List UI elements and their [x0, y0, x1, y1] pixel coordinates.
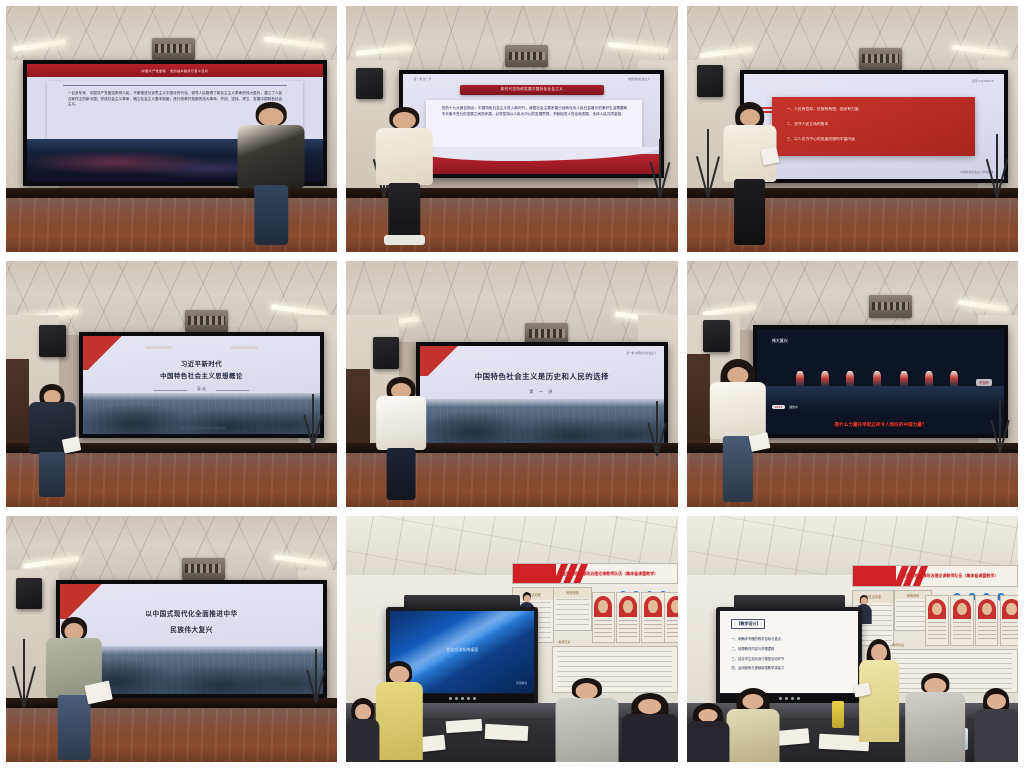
participant — [621, 693, 677, 762]
table-document — [485, 724, 529, 741]
lecture-hall-scene: 习近平新时代 中国特色社会主义思想概论 导 论 马克思主义学院 思想政治理论课教… — [6, 261, 337, 507]
slide-course-title: 习近平新时代 中国特色社会主义思想概论 导 论 马克思主义学院 思想政治理论课教… — [83, 336, 320, 434]
presenter — [376, 661, 422, 759]
lecture-hall-scene: 目录 CONTENTS 一、人民有信仰，民族有希望，国家有力量 二、坚守人民立场… — [687, 6, 1018, 252]
head — [742, 694, 763, 709]
photo-cell-9[interactable]: 全国高校思想政治理论课教师队伍（集体备课暨教学） 党员活动室 师德师风 教师风采 — [687, 516, 1018, 762]
participant — [905, 673, 965, 762]
teacher-photo-card — [925, 595, 949, 646]
outline-item: 一、明确本专题的教学目标与重点 — [731, 636, 850, 641]
legs — [387, 448, 416, 500]
torso — [859, 660, 899, 743]
legs — [39, 452, 65, 497]
camera-tripod — [707, 129, 709, 198]
video-control-label: 播放中 — [789, 405, 797, 409]
slide-red-wave — [403, 154, 660, 174]
camera-tripod — [659, 139, 661, 198]
presenter — [710, 359, 766, 502]
photo-cell-8[interactable]: 全国高校思想政治理论课教师队伍（集体备课暨教学） 党员活动室 师德师风 教师风采 — [346, 516, 677, 762]
presenter — [46, 617, 102, 760]
wall-speaker — [39, 325, 66, 357]
wall-speaker — [356, 68, 383, 100]
taskbar-icon[interactable] — [473, 697, 476, 700]
projector-unit — [182, 558, 225, 580]
legs — [254, 185, 288, 245]
desktop-caption: 会议交流系统桌面 — [390, 647, 534, 653]
slide-section-title: 第一章 中国特色社会主义 中国特色社会主义是历史和人民的选择 第 一 讲 — [420, 346, 664, 444]
taskbar-icon[interactable] — [791, 697, 794, 700]
led-screen: 第一章 中国特色社会主义 中国特色社会主义是历史和人民的选择 第 一 讲 — [416, 342, 668, 448]
camera-tripod — [23, 639, 25, 708]
outline-item: 三、结合学生实际设计课堂互动环节 — [731, 656, 850, 661]
photo-cell-7[interactable]: 以中国式现代化全面推进中华 民族伟大复兴 — [6, 516, 337, 762]
torso — [346, 719, 379, 762]
camera-tripod — [312, 394, 314, 448]
head — [987, 694, 1005, 709]
presenter — [859, 639, 899, 742]
slide-badge: 新时代坚持和发展中国特色社会主义 — [460, 85, 604, 95]
photo-cell-5[interactable]: 第一章 中国特色社会主义 中国特色社会主义是历史和人民的选择 第 一 讲 — [346, 261, 677, 507]
slide-banner-text: 中国共产党章程 · 党的基本路线与奋斗目标 — [27, 64, 324, 77]
teacher-photo-card — [641, 592, 665, 643]
meeting-room-scene: 全国高校思想政治理论课教师队伍（集体备课暨教学） 党员活动室 师德师风 教师风采 — [687, 516, 1018, 762]
teacher-photo-card — [975, 595, 999, 646]
photo-cell-3[interactable]: 目录 CONTENTS 一、人民有信仰，民族有希望，国家有力量 二、坚守人民立场… — [687, 6, 1018, 252]
photo-cell-6[interactable]: 伟大复兴 央视网 CCTV 播放中 是什么力量托举起这样令人惊叹的中国力量？ — [687, 261, 1018, 507]
wall-speaker — [373, 337, 400, 369]
head — [871, 644, 887, 661]
torso — [621, 714, 677, 762]
slide-footer: 马克思主义学院 思想政治理论课教学团队 — [83, 426, 320, 430]
decor-line — [230, 346, 258, 349]
taskbar-icon[interactable] — [449, 697, 452, 700]
video-performer — [796, 371, 804, 386]
outline-item: 四、运用案例与视频增强教学感染力 — [731, 665, 850, 670]
slide-header-right: 第一章 中国特色社会主义 — [626, 351, 656, 355]
led-screen: 目录 CONTENTS 一、人民有信仰，民族有希望，国家有力量 二、坚守人民立场… — [740, 70, 1008, 183]
led-screen: 第一章 第一节 中国特色社会主义 新时代坚持和发展中国特色社会主义 党的十九大报… — [399, 70, 664, 178]
photo-cell-1[interactable]: 中国共产党章程 · 党的基本路线与奋斗目标 一百多年来，中国共产党团结带领人民，… — [6, 6, 337, 252]
video-controls[interactable]: CCTV 播放中 — [772, 405, 798, 409]
outline-item: 一、人民有信仰，民族有希望，国家有力量 — [787, 107, 962, 112]
slide-divider — [63, 85, 288, 86]
panel-camera-bar — [404, 595, 520, 609]
photo-collage-grid: 中国共产党章程 · 党的基本路线与奋斗目标 一百多年来，中国共产党团结带领人民，… — [0, 0, 1024, 768]
taskbar-icon[interactable] — [797, 697, 800, 700]
video-performer — [846, 371, 854, 386]
taskbar-icon[interactable] — [455, 697, 458, 700]
participant — [726, 688, 779, 762]
shoe — [400, 235, 425, 245]
projector-unit — [185, 310, 228, 332]
wall-banner: 全国高校思想政治理论课教师队伍（集体备课暨教学） — [512, 563, 678, 585]
photo-cell-2[interactable]: 第一章 第一节 中国特色社会主义 新时代坚持和发展中国特色社会主义 党的十九大报… — [346, 6, 677, 252]
led-screen: 习近平新时代 中国特色社会主义思想概论 导 论 马克思主义学院 思想政治理论课教… — [79, 332, 324, 438]
teacher-photo-card — [1000, 595, 1018, 646]
outline-slide: 【教学设计】 一、明确本专题的教学目标与重点 二、梳理教材内容与学理逻辑 三、结… — [720, 611, 858, 693]
video-frame: 伟大复兴 央视网 CCTV 播放中 是什么力量托举起这样令人惊叹的中国力量？ — [757, 329, 1004, 434]
door — [687, 354, 710, 452]
wall-speaker — [703, 320, 730, 352]
video-performer — [821, 371, 829, 386]
video-performer — [873, 371, 881, 386]
wall-board: 师德师风 — [553, 587, 591, 631]
torso — [376, 682, 422, 760]
observer — [29, 384, 75, 497]
slide-header-right: 目录 CONTENTS — [972, 79, 994, 83]
thermos-cup — [832, 701, 844, 728]
banner-text: 全国高校思想政治理论课教师队伍（集体备课暨教学） — [562, 564, 673, 584]
torso — [905, 692, 965, 762]
panel-camera-bar — [734, 595, 845, 609]
board-content — [556, 599, 590, 628]
camera-tripod — [656, 401, 658, 455]
slide-header: 第一章 第一节 中国特色社会主义 — [403, 77, 660, 81]
torso — [376, 128, 432, 186]
video-performer — [900, 371, 908, 386]
camera-tripod — [996, 134, 998, 198]
meeting-room-scene: 全国高校思想政治理论课教师队伍（集体备课暨教学） 党员活动室 师德师风 教师风采 — [346, 516, 677, 762]
legs — [58, 695, 91, 759]
participant — [555, 678, 618, 762]
video-stage-floor — [757, 386, 1004, 413]
slide-banner: 中国共产党章程 · 党的基本路线与奋斗目标 — [27, 64, 324, 77]
taskbar-icon[interactable] — [461, 697, 464, 700]
projector-unit — [152, 38, 195, 60]
desktop-corner-label: 智慧教室 — [516, 681, 527, 685]
slide-subtitle: 第 一 讲 — [420, 389, 664, 395]
legs — [723, 436, 753, 502]
head — [393, 112, 416, 129]
participant — [687, 703, 730, 762]
projector-unit — [869, 295, 912, 317]
presenter — [723, 102, 776, 245]
slide-subtitle: 导 论 — [83, 386, 320, 392]
torso — [687, 721, 730, 762]
slide-header-right: 中国特色社会主义 — [628, 77, 650, 81]
wall-speaker — [697, 65, 724, 97]
camera-tripod — [315, 649, 317, 703]
presenter — [376, 377, 426, 500]
board-title: 师德师风 — [554, 588, 590, 597]
wall-speaker — [16, 578, 43, 610]
video-badge: CCTV — [772, 405, 786, 409]
door — [346, 369, 369, 453]
banner-block — [853, 566, 896, 586]
decor-line — [145, 346, 173, 349]
lecture-hall-scene: 以中国式现代化全面推进中华 民族伟大复兴 — [6, 516, 337, 762]
participant — [346, 698, 379, 762]
lecture-hall-scene: 第一章 第一节 中国特色社会主义 新时代坚持和发展中国特色社会主义 党的十九大报… — [346, 6, 677, 252]
outline-item: 二、梳理教材内容与学理逻辑 — [731, 646, 850, 651]
video-performer — [950, 371, 958, 386]
slide-title-line1: 中国特色社会主义是历史和人民的选择 — [420, 372, 664, 382]
presenter — [376, 107, 432, 245]
torso — [376, 396, 426, 450]
torso — [238, 125, 305, 188]
photo-wall-label: 教师风采 — [558, 640, 570, 644]
teacher-photo-card — [616, 592, 640, 643]
slide-badge-text: 新时代坚持和发展中国特色社会主义 — [501, 87, 563, 92]
camera-tripod — [999, 399, 1001, 453]
banner-text: 全国高校思想政治理论课教师队伍（集体备课暨教学） — [902, 566, 1013, 586]
video-performer — [925, 371, 933, 386]
taskbar-icon[interactable] — [785, 697, 788, 700]
banner-block — [513, 564, 556, 584]
head — [638, 699, 662, 714]
great-wall-photo — [420, 399, 664, 444]
outline-item: 二、坚守人民立场的根本 — [787, 122, 962, 127]
slide-title-line2: 中国特色社会主义思想概论 — [83, 373, 320, 381]
door — [6, 359, 29, 453]
torso — [710, 382, 766, 439]
torso — [726, 709, 779, 762]
slide-article-card: 第一章 第一节 中国特色社会主义 新时代坚持和发展中国特色社会主义 党的十九大报… — [403, 74, 660, 174]
slide-body-text: 党的十九大报告指出：中国特色社会主义进入新时代，我国社会主要矛盾已经转化为人民日… — [442, 106, 628, 118]
teacher-photo-card — [592, 592, 616, 643]
torso — [975, 709, 1018, 762]
torso — [555, 698, 618, 762]
teacher-photo-card — [664, 592, 677, 643]
lecture-hall-scene: 中国共产党章程 · 党的基本路线与奋斗目标 一百多年来，中国共产党团结带领人民，… — [6, 6, 337, 252]
slide-panel: 一、人民有信仰，民族有希望，国家有力量 二、坚守人民立场的根本 三、以人民为中心… — [772, 97, 975, 156]
slide-card: 党的十九大报告指出：中国特色社会主义进入新时代，我国社会主要矛盾已经转化为人民日… — [426, 100, 642, 152]
presenter — [235, 102, 308, 245]
projector-unit — [859, 48, 902, 70]
slide-title-line1: 习近平新时代 — [83, 361, 320, 369]
slide-title: 【教学设计】 — [731, 619, 765, 629]
participant — [975, 688, 1018, 762]
slide-video: 伟大复兴 央视网 CCTV 播放中 是什么力量托举起这样令人惊叹的中国力量？ — [757, 329, 1004, 434]
slide-red-outline: 目录 CONTENTS 一、人民有信仰，民族有希望，国家有力量 二、坚守人民立场… — [744, 74, 1004, 179]
video-subtitle: 是什么力量托举起这样令人惊叹的中国力量？ — [757, 422, 1004, 428]
video-title-overlay: 伟大复兴 — [772, 338, 788, 344]
led-screen: 伟大复兴 央视网 CCTV 播放中 是什么力量托举起这样令人惊叹的中国力量？ — [753, 325, 1008, 438]
panel-screen[interactable]: 【教学设计】 一、明确本专题的教学目标与重点 二、梳理教材内容与学理逻辑 三、结… — [720, 611, 858, 693]
outline-item: 三、以人民为中心的发展思想的丰富内涵 — [787, 137, 962, 142]
legs — [734, 179, 766, 245]
head — [390, 666, 409, 683]
wall-banner: 全国高校思想政治理论课教师队伍（集体备课暨教学） — [852, 565, 1018, 587]
projector-unit — [505, 45, 548, 67]
photo-cell-4[interactable]: 习近平新时代 中国特色社会主义思想概论 导 论 马克思主义学院 思想政治理论课教… — [6, 261, 337, 507]
taskbar-icon[interactable] — [467, 697, 470, 700]
lecture-hall-scene: 第一章 中国特色社会主义 中国特色社会主义是历史和人民的选择 第 一 讲 — [346, 261, 677, 507]
lecture-hall-scene: 伟大复兴 央视网 CCTV 播放中 是什么力量托举起这样令人惊叹的中国力量？ — [687, 261, 1018, 507]
slide-header-left: 第一章 第一节 — [414, 77, 432, 81]
teacher-photo-card — [950, 595, 974, 646]
head — [259, 108, 284, 127]
video-watermark: 央视网 — [976, 379, 992, 386]
